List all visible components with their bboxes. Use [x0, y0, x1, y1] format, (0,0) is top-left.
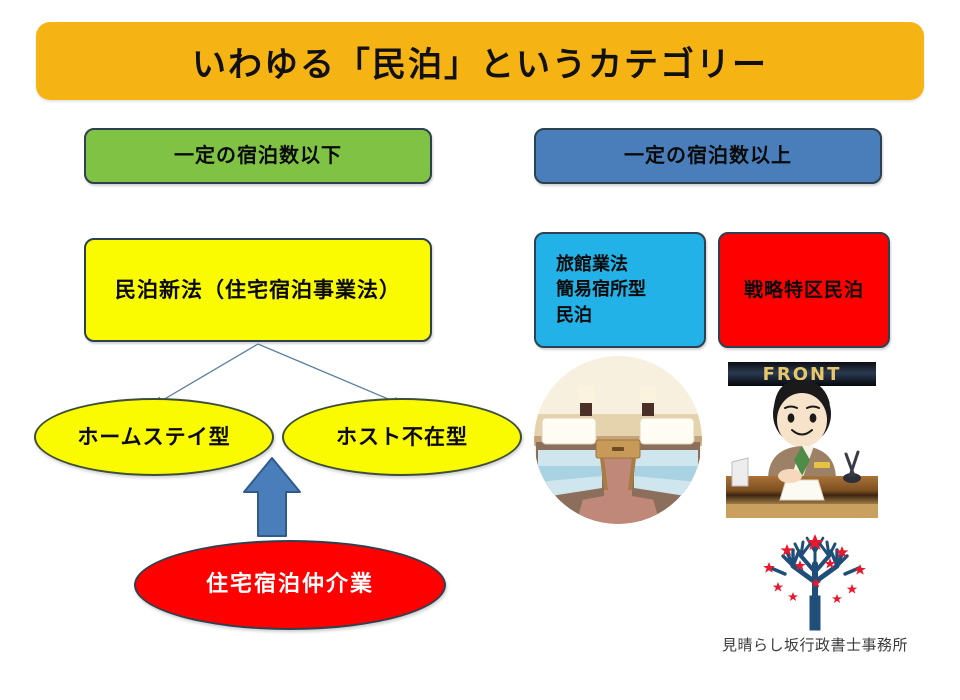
ryokan-law-line-2: 簡易宿所型: [556, 279, 646, 300]
lodging-brokerage-ellipse[interactable]: 住宅宿泊仲介業: [134, 540, 446, 630]
minpaku-new-law-box[interactable]: 民泊新法（住宅宿泊事業法）: [84, 238, 432, 342]
host-absent-type-ellipse[interactable]: ホスト不在型: [282, 398, 522, 476]
category-header-under-limit-label: 一定の宿泊数以下: [174, 143, 342, 169]
miharashizaka-office-logo: 見晴らし坂行政書士事務所: [690, 530, 940, 655]
ryokan-law-line-1: 旅館業法: [556, 254, 628, 275]
host-absent-type-label: ホスト不在型: [336, 427, 468, 448]
category-header-under-limit[interactable]: 一定の宿泊数以下: [84, 128, 432, 184]
page-title: いわゆる「民泊」というカテゴリー: [192, 37, 768, 86]
strategic-zone-minpaku-box[interactable]: 戦略特区民泊: [718, 232, 890, 348]
category-header-over-limit[interactable]: 一定の宿泊数以上: [534, 128, 882, 184]
ryokan-law-line-3: 民泊: [556, 305, 592, 326]
ryokan-law-simple-lodging-box[interactable]: 旅館業法 簡易宿所型 民泊: [534, 232, 706, 348]
lodging-brokerage-label: 住宅宿泊仲介業: [206, 574, 374, 596]
slide-title-banner: いわゆる「民泊」というカテゴリー: [36, 22, 924, 100]
ryokan-law-simple-lodging-label: 旅館業法 簡易宿所型 民泊: [556, 252, 646, 329]
hotel-front-desk-illustration: FRONT: [718, 356, 886, 524]
homestay-type-ellipse[interactable]: ホームステイ型: [34, 398, 274, 476]
homestay-type-label: ホームステイ型: [77, 427, 230, 448]
slide-canvas: いわゆる「民泊」というカテゴリー 一定の宿泊数以下 一定の宿泊数以上 民泊新法（…: [0, 0, 960, 700]
strategic-zone-minpaku-label: 戦略特区民泊: [744, 278, 864, 302]
category-header-over-limit-label: 一定の宿泊数以上: [624, 143, 792, 169]
minpaku-new-law-label: 民泊新法（住宅宿泊事業法）: [115, 277, 401, 304]
hotel-twin-room-illustration: [534, 356, 702, 524]
office-logo-text: 見晴らし坂行政書士事務所: [690, 634, 940, 655]
